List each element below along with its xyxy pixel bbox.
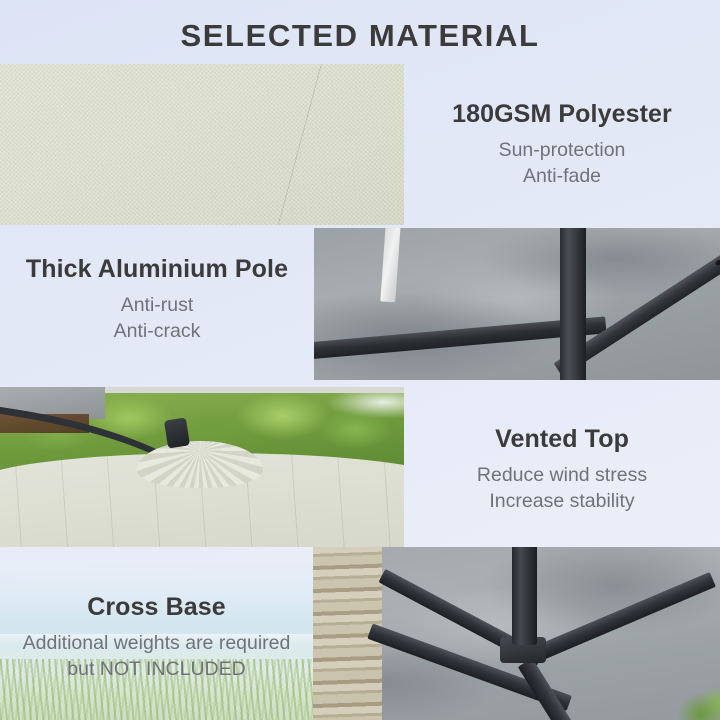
feature-subtitle-vented-top-line1: Reduce wind stress	[404, 463, 720, 489]
feature-text-polyester: 180GSM Polyester Sun-protection Anti-fad…	[404, 100, 720, 189]
feature-subtitle-pole-line2: Anti-crack	[0, 319, 314, 345]
cross-base-arm-bottom	[517, 658, 622, 720]
infographic-page: SELECTED MATERIAL 180GSM Polyester Sun-p…	[0, 0, 720, 720]
feature-subtitle-cross-base-line1: Additional weights are required	[0, 631, 313, 657]
feature-title-cross-base: Cross Base	[0, 593, 313, 622]
chair-leg-detail	[380, 228, 400, 302]
vent-cap	[137, 441, 262, 487]
umbrella-pole	[512, 547, 537, 645]
grass-detail	[655, 668, 720, 720]
page-title: SELECTED MATERIAL	[0, 18, 720, 54]
fabric-swatch-photo	[0, 64, 404, 225]
aluminium-pole-photo	[314, 228, 720, 380]
feature-title-vented-top: Vented Top	[404, 425, 720, 454]
feature-text-cross-base: Cross Base Additional weights are requir…	[0, 593, 313, 682]
feature-subtitle-pole-line1: Anti-rust	[0, 293, 314, 319]
feature-subtitle-vented-top-line2: Increase stability	[404, 489, 720, 515]
feature-text-vented-top: Vented Top Reduce wind stress Increase s…	[404, 425, 720, 514]
feature-subtitle-polyester-line1: Sun-protection	[404, 138, 720, 164]
feature-title-polyester: 180GSM Polyester	[404, 100, 720, 129]
feature-subtitle-cross-base-line2: but NOT INCLUDED	[0, 657, 313, 683]
umbrella-pole	[560, 228, 586, 380]
feature-title-pole: Thick Aluminium Pole	[0, 255, 314, 284]
canopy-hub-bracket	[164, 417, 190, 448]
cross-base-arm-right	[521, 572, 715, 666]
vented-top-photo	[0, 387, 404, 547]
feature-subtitle-polyester-line2: Anti-fade	[404, 164, 720, 190]
feature-text-pole: Thick Aluminium Pole Anti-rust Anti-crac…	[0, 255, 314, 344]
cross-base-photo	[313, 547, 720, 720]
